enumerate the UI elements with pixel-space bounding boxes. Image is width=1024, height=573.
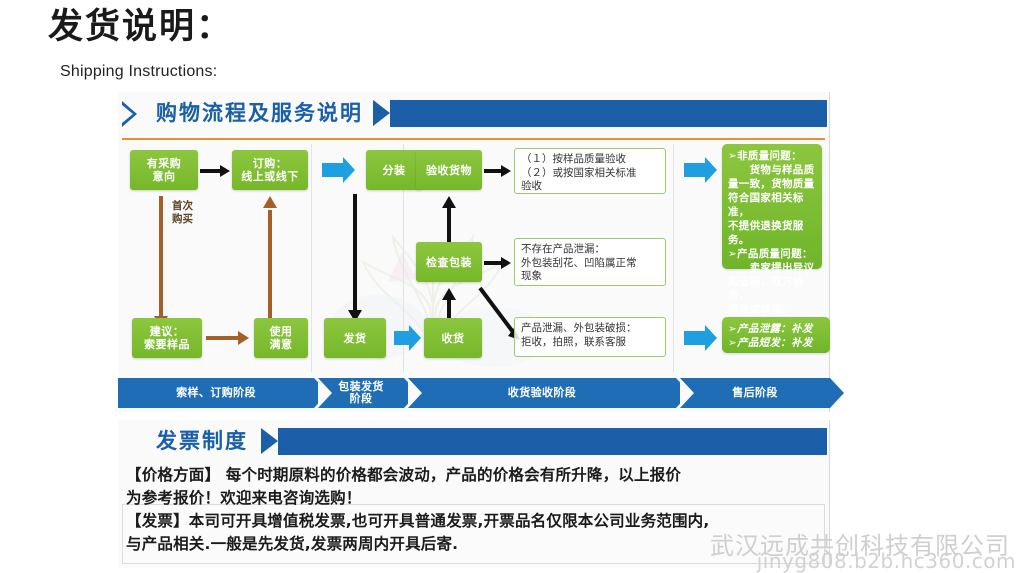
banner-bar <box>390 100 827 127</box>
arrow-repack-to-ship <box>350 194 360 324</box>
flow-box-intent[interactable]: 有采购 意向 <box>130 150 198 190</box>
flow-box-satisfied[interactable]: 使用 满意 <box>254 318 308 358</box>
stage-sample-order[interactable]: 索样、订购阶段 <box>118 378 314 408</box>
flow-box-order[interactable]: 订购： 线上或线下 <box>232 150 308 190</box>
stage-label: 收货验收阶段 <box>508 387 576 399</box>
flow-box-sample[interactable]: 建议： 索要样品 <box>132 318 202 358</box>
arrow-to-reship-policy <box>684 331 706 345</box>
note-accept-standard: （１）按样品质量验收 （２）或按国家相关标准 验收 <box>514 148 666 194</box>
flow-box-label: 收货 <box>442 332 465 345</box>
outcome-reship-policy: ➢产品泄露：补发 ➢产品短发：补发 <box>722 317 830 353</box>
stage-label: 售后阶段 <box>732 387 778 399</box>
page-root: 发货说明： Shipping Instructions: 购物流程及服务说明 <box>0 0 1024 573</box>
flow-box-label: 验收货物 <box>426 164 472 177</box>
flow-box-label: 使用 满意 <box>270 325 293 351</box>
stage-pack-ship[interactable]: 包装发货 阶段 <box>318 378 404 408</box>
stage-label: 索样、订购阶段 <box>176 387 256 399</box>
column-separator <box>311 144 312 372</box>
stage-bar: 索样、订购阶段 包装发货 阶段 收货验收阶段 售后阶段 <box>118 378 829 408</box>
column-separator <box>673 144 674 372</box>
flow-box-receive[interactable]: 收货 <box>424 318 482 358</box>
flow-box-check-package[interactable]: 检查包装 <box>416 242 482 282</box>
invoice-banner: 发票制度 <box>118 426 829 458</box>
arrow-package-to-noleak <box>484 259 512 266</box>
stage-after-sales[interactable]: 售后阶段 <box>680 378 830 408</box>
note-leak-damage: 产品泄漏、外包装破损： 拒收，拍照，联系客服 <box>514 317 666 357</box>
invoice-banner-title: 发票制度 <box>156 426 248 457</box>
flow-box-label: 建议： 索要样品 <box>144 325 190 351</box>
flow-box-label: 检查包装 <box>426 256 472 269</box>
outcome-quality-policy: ➢非质量问题： 货物与样品质 量一致，货物质量 符合国家相关标准， 不提供退换货… <box>722 144 822 269</box>
arrow-order-to-repack <box>322 163 344 177</box>
note-no-leak: 不存在产品泄漏： 外包装刮花、凹陷属正常 现象 <box>514 238 666 286</box>
page-title-cn: 发货说明： <box>48 2 233 52</box>
chevron-left-icon <box>122 101 137 127</box>
watermark-url: jinyg808.b2b.hc360.com <box>757 549 1016 573</box>
flow-box-ship[interactable]: 发货 <box>324 318 386 358</box>
arrow-to-quality-policy <box>684 163 706 177</box>
orange-divider <box>122 138 825 140</box>
flow-box-label: 有采购 意向 <box>147 157 182 183</box>
page-title-en: Shipping Instructions: <box>60 63 217 81</box>
stage-receive-check[interactable]: 收货验收阶段 <box>408 378 676 408</box>
stage-label: 包装发货 阶段 <box>338 381 384 405</box>
flow-box-label: 分装 <box>383 164 406 177</box>
arrow-sample-to-satisfied <box>206 334 252 342</box>
flow-banner-title: 购物流程及服务说明 <box>156 98 363 129</box>
flow-box-label: 订购： 线上或线下 <box>241 157 299 183</box>
flow-banner: 购物流程及服务说明 <box>118 98 829 130</box>
flow-box-label: 发货 <box>344 332 367 345</box>
branch-label-first-purchase: 首次 购买 <box>172 200 193 226</box>
arrow-inspect-to-standard <box>484 167 512 174</box>
flow-box-repack[interactable]: 分装 <box>366 150 422 190</box>
invoice-line: 为参考报价！欢迎来电咨询选购！ <box>126 487 886 510</box>
shopping-flow-panel: 购物流程及服务说明 <box>118 92 830 412</box>
arrow-intent-to-order <box>200 167 230 174</box>
arrow-ship-to-receive <box>394 331 410 345</box>
flow-box-inspect-goods[interactable]: 验收货物 <box>416 150 482 190</box>
invoice-line: 【价格方面】 每个时期原料的价格都会波动，产品的价格会有所升降，以上报价 <box>126 464 886 487</box>
arrow-first-purchase <box>156 196 166 328</box>
arrow-package-up-to-inspect <box>444 196 454 240</box>
invoice-banner-bar <box>278 428 827 455</box>
arrow-satisfied-to-order <box>265 196 275 328</box>
